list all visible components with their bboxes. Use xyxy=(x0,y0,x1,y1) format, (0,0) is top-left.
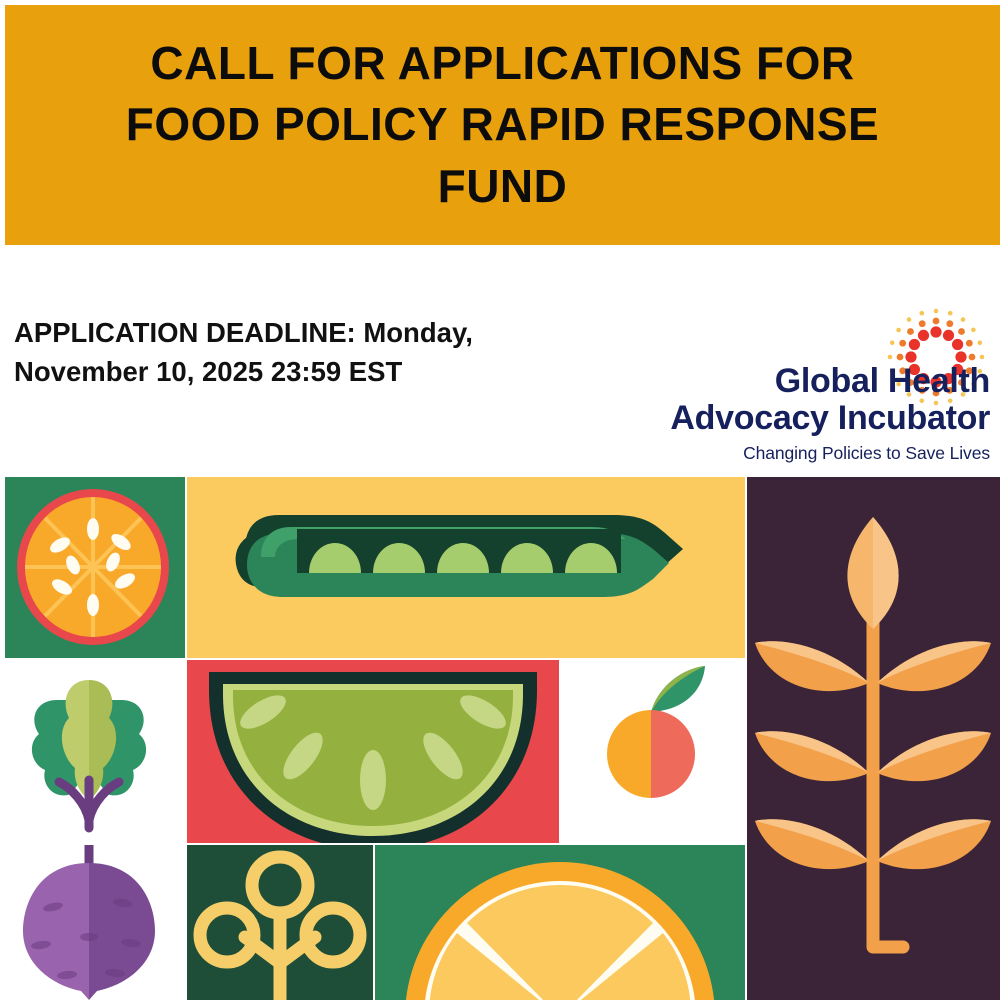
food-illustration-grid xyxy=(0,472,1000,1000)
page-title: CALL FOR APPLICATIONS FOR FOOD POLICY RA… xyxy=(123,33,883,217)
logo-name-line-1: Global Health xyxy=(618,363,990,400)
melon-half-tile xyxy=(187,660,559,843)
orange-slice-tile xyxy=(5,477,185,658)
pea-pod-tile xyxy=(187,477,745,658)
apple-tile xyxy=(561,660,745,843)
wheat-stalk-tile xyxy=(747,477,1000,1000)
application-deadline: APPLICATION DEADLINE: Monday, November 1… xyxy=(14,313,614,391)
logo-tagline: Changing Policies to Save Lives xyxy=(618,443,990,464)
beet-root-tile xyxy=(5,845,185,1000)
organization-logo: Global Health Advocacy Incubator Changin… xyxy=(612,305,990,470)
citrus-wheel-tile xyxy=(375,845,745,1000)
sprout-tile xyxy=(187,845,373,1000)
beet-tile xyxy=(5,660,185,843)
deadline-text: APPLICATION DEADLINE: Monday, November 1… xyxy=(14,317,473,387)
header-banner: CALL FOR APPLICATIONS FOR FOOD POLICY RA… xyxy=(5,5,1000,245)
logo-wordmark: Global Health Advocacy Incubator Changin… xyxy=(618,363,990,464)
poster: CALL FOR APPLICATIONS FOR FOOD POLICY RA… xyxy=(0,0,1000,1000)
logo-name-line-2: Advocacy Incubator xyxy=(618,400,990,437)
